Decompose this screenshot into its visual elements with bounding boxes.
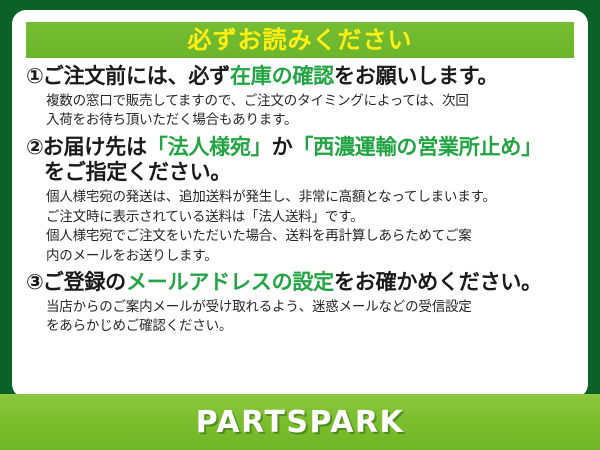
headline-text: をお確かめください。 — [334, 270, 542, 294]
headline-text: をお願いします。 — [334, 64, 498, 88]
footer-band: PARTSPARK — [0, 394, 600, 450]
notice-items: ①ご注文前には、必ず在庫の確認をお願いします。複数の窓口で販売してますので、ご注… — [12, 64, 588, 341]
notice-item-body: 複数の窓口で販売してますので、ご注文のタイミングによっては、次回入荷をお待ち頂い… — [26, 92, 576, 131]
notice-body-line: 個人様宅宛でご注文をいただいた場合、送料を再計算しあらためてご案 — [46, 227, 576, 247]
notice-item-body: 個人様宅宛の発送は、追加送料が発生し、非常に高額となってしまいます。ご注文時に表… — [26, 188, 576, 266]
notice-body-line: をあらかじめご確認ください。 — [46, 317, 576, 337]
notice-body-line: 当店からのご案内メールが受け取れるよう、迷惑メールなどの受信設定 — [46, 298, 576, 318]
headline-continuation: をご指定ください。 — [26, 160, 576, 186]
header-banner: 必ずお読みください — [26, 22, 574, 58]
notice-card: 必ずお読みください ①ご注文前には、必ず在庫の確認をお願いします。複数の窓口で販… — [0, 0, 600, 450]
notice-item: ①ご注文前には、必ず在庫の確認をお願いします。複数の窓口で販売してますので、ご注… — [26, 64, 576, 131]
headline-highlight: 「法人様宛」 — [147, 135, 272, 159]
white-panel: 必ずお読みください ①ご注文前には、必ず在庫の確認をお願いします。複数の窓口で販… — [12, 10, 588, 398]
notice-body-line: ご注文時に表示されている送料は「法人送料」です。 — [46, 208, 576, 228]
headline-highlight: 在庫の確認 — [230, 64, 334, 88]
headline-text: ご注文前には、必ず — [43, 64, 230, 88]
headline-text: か — [272, 135, 293, 159]
notice-item-number: ③ — [26, 270, 43, 294]
notice-body-line: 入荷をお待ち頂いただく場合もあります。 — [46, 111, 576, 131]
headline-text: ご登録の — [43, 270, 126, 294]
notice-body-line: 内のメールをお送りします。 — [46, 247, 576, 267]
headline-highlight: 「西濃運輸の営業所止め」 — [292, 135, 542, 159]
notice-item-body: 当店からのご案内メールが受け取れるよう、迷惑メールなどの受信設定をあらかじめご確… — [26, 298, 576, 337]
notice-item-number: ② — [26, 135, 43, 159]
notice-item: ②お届け先は「法人様宛」か「西濃運輸の営業所止め」をご指定ください。個人様宅宛の… — [26, 135, 576, 266]
headline-highlight: メールアドレスの設定 — [126, 270, 334, 294]
notice-item-headline: ③ご登録のメールアドレスの設定をお確かめください。 — [26, 270, 576, 296]
notice-item-headline: ①ご注文前には、必ず在庫の確認をお願いします。 — [26, 64, 576, 90]
headline-text: お届け先は — [43, 135, 147, 159]
brand-logo: PARTSPARK — [196, 405, 405, 440]
notice-body-line: 個人様宅宛の発送は、追加送料が発生し、非常に高額となってしまいます。 — [46, 188, 576, 208]
notice-body-line: 複数の窓口で販売してますので、ご注文のタイミングによっては、次回 — [46, 92, 576, 112]
notice-item-number: ① — [26, 64, 43, 88]
page-title: 必ずお読みください — [188, 28, 413, 52]
notice-item: ③ご登録のメールアドレスの設定をお確かめください。当店からのご案内メールが受け取… — [26, 270, 576, 337]
notice-item-headline: ②お届け先は「法人様宛」か「西濃運輸の営業所止め」をご指定ください。 — [26, 135, 576, 186]
